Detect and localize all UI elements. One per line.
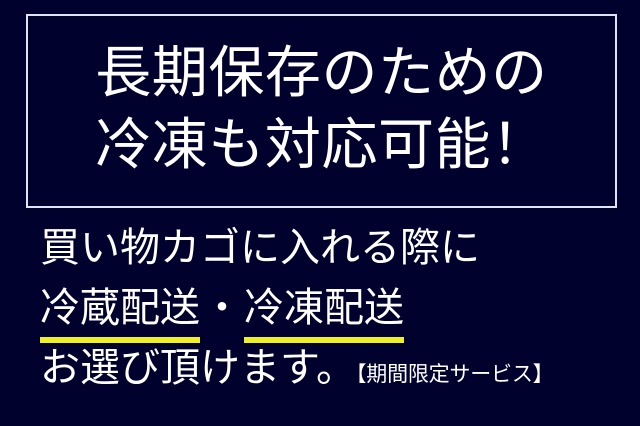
headline-line-2: 冷凍も対応可能！ xyxy=(95,111,547,183)
body-line-1: 買い物カゴに入れる際に xyxy=(40,218,610,278)
refrigerated-shipping-label: 冷蔵配送 xyxy=(40,278,200,338)
headline-line-1: 長期保存のための xyxy=(95,39,547,111)
limited-time-service-note: 【期間限定サービス】 xyxy=(356,362,553,386)
body-copy: 買い物カゴに入れる際に 冷蔵配送・冷凍配送 お選び頂けます。【期間限定サービス】 xyxy=(40,218,610,398)
body-line-2: 冷蔵配送・冷凍配送 xyxy=(40,278,610,338)
frozen-shipping-label: 冷凍配送 xyxy=(244,278,404,338)
body-line-3-main: お選び頂けます。 xyxy=(40,345,356,390)
headline-framed-box: 長期保存のための 冷凍も対応可能！ xyxy=(26,14,617,208)
promo-banner: 長期保存のための 冷凍も対応可能！ 買い物カゴに入れる際に 冷蔵配送・冷凍配送 … xyxy=(0,0,640,426)
body-line-3: お選び頂けます。【期間限定サービス】 xyxy=(40,338,610,398)
separator-dot: ・ xyxy=(200,278,244,338)
